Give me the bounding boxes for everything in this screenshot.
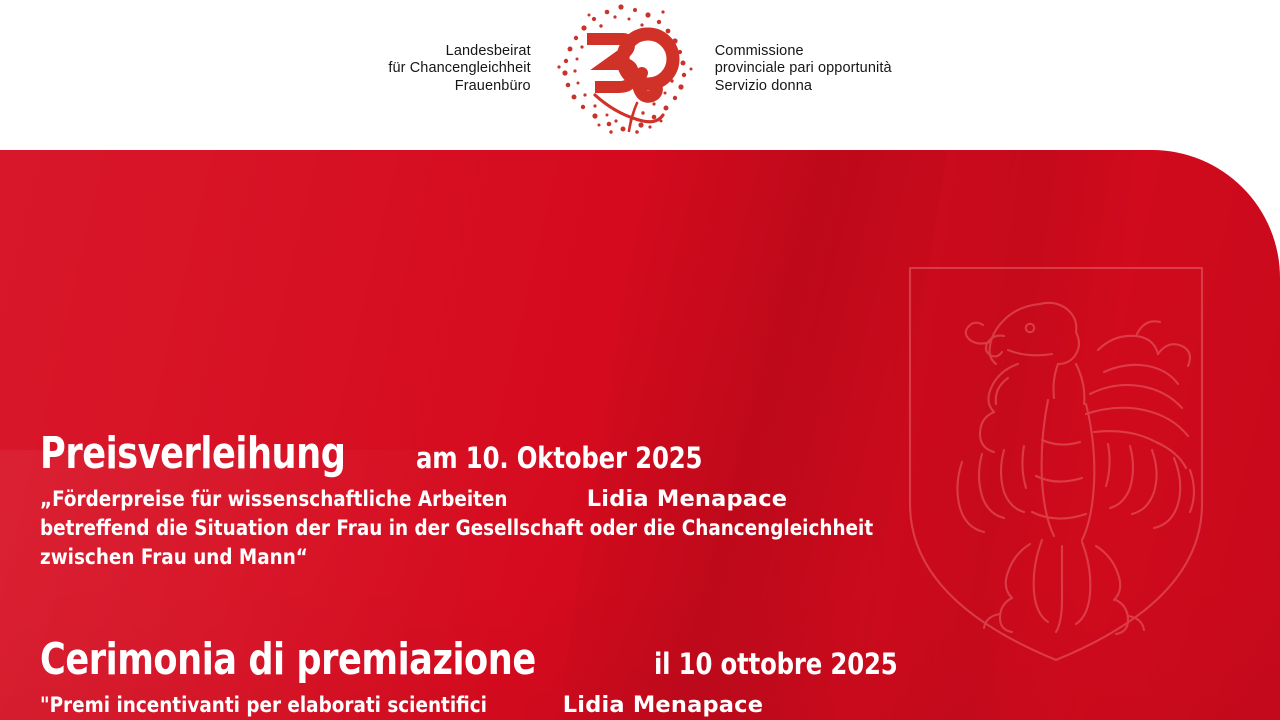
announcement-content: Preisverleihungam 10. Oktober 2025 „Förd… (40, 428, 1050, 720)
logo-lockup: Landesbeirat für Chancengleichheit Fraue… (388, 3, 891, 135)
headline-german: Preisverleihungam 10. Oktober 2025 (40, 428, 1050, 479)
subtitle-german-part2: betreffend die Situation der Frau in der… (40, 514, 904, 572)
headline-german-main: Preisverleihung (40, 428, 345, 479)
anniversary-30-venus-logo-icon (549, 3, 699, 135)
award-name-italian: Lidia Menapace (563, 692, 763, 718)
announcement-block-german: Preisverleihungam 10. Oktober 2025 „Förd… (40, 428, 1050, 572)
subtitle-italian: "Premi incentivanti per elaborati scient… (40, 691, 1050, 720)
headline-italian: Cerimonia di premiazioneil 10 ottobre 20… (40, 634, 1050, 685)
headline-italian-date: il 10 ottobre 2025 (654, 647, 898, 681)
org-name-german: Landesbeirat für Chancengleichheit Fraue… (388, 43, 548, 96)
headline-italian-main: Cerimonia di premiazione (40, 634, 536, 685)
header-band: Landesbeirat für Chancengleichheit Fraue… (0, 0, 1280, 150)
award-name-german: Lidia Menapace (587, 486, 787, 512)
subtitle-german-part1: „Förderpreise für wissenschaftliche Arbe… (40, 485, 507, 514)
announcement-block-italian: Cerimonia di premiazioneil 10 ottobre 20… (40, 634, 1050, 720)
org-name-italian: Commissione provinciale pari opportunità… (699, 43, 892, 96)
subtitle-german: „Förderpreise für wissenschaftliche Arbe… (40, 485, 1050, 572)
poster-slide: Landesbeirat für Chancengleichheit Fraue… (0, 0, 1280, 720)
subtitle-italian-part1: "Premi incentivanti per elaborati scient… (40, 691, 487, 720)
red-content-panel: Preisverleihungam 10. Oktober 2025 „Förd… (0, 150, 1280, 720)
headline-german-date: am 10. Oktober 2025 (416, 441, 702, 475)
